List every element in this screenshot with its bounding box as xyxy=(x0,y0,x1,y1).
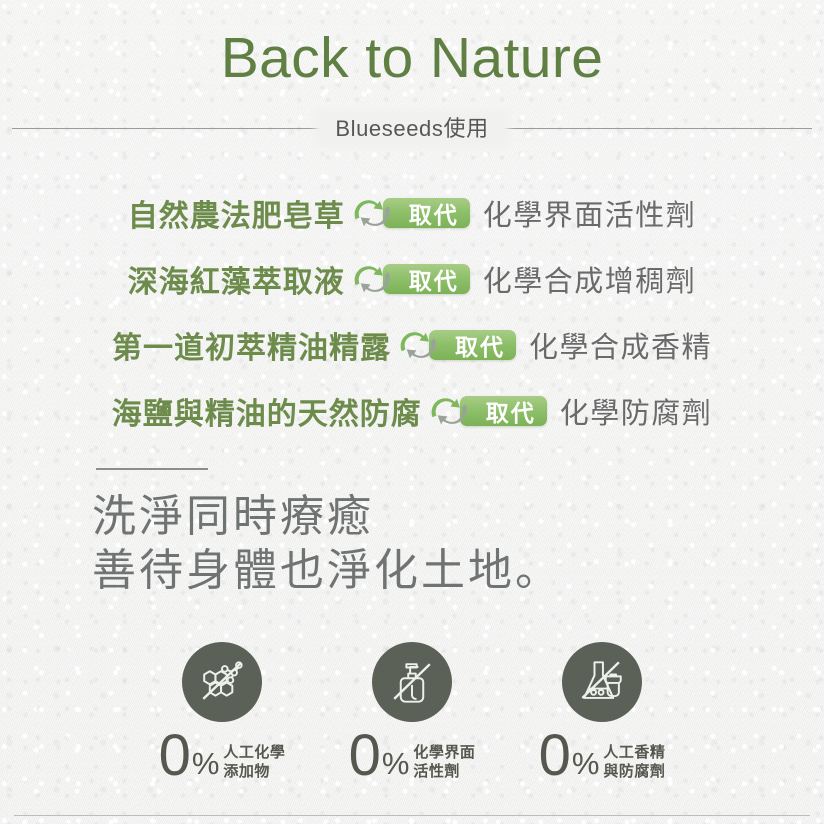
claim-icon-disc xyxy=(182,642,262,722)
replaces-badge: 取代 xyxy=(352,191,470,235)
replaces-badge: 取代 xyxy=(398,323,516,367)
replaces-badge: 取代 xyxy=(352,257,470,301)
claim-label: 化學界面 活性劑 xyxy=(413,744,475,782)
hero-subtitle-wrap: Blueseeds使用 xyxy=(12,116,812,142)
chemical-ingredient-label: 化學防腐劑 xyxy=(560,390,713,432)
claim-label-line-2: 活性劑 xyxy=(413,763,475,780)
claim-item: 0 % 人工香精 與防腐劑 xyxy=(507,642,697,792)
hero-subtitle-rule: Blueseeds使用 xyxy=(12,116,812,142)
natural-ingredient-label: 海鹽與精油的天然防腐 xyxy=(112,389,422,433)
recycle-arrows-icon xyxy=(429,391,469,431)
natural-ingredient-label: 深海紅藻萃取液 xyxy=(128,257,345,301)
claim-unit: % xyxy=(382,747,410,781)
footer-divider xyxy=(14,815,810,816)
zero-claims-row: 0 % 人工化學 添加物 xyxy=(0,642,824,792)
claim-label: 人工香精 與防腐劑 xyxy=(603,744,665,782)
natural-ingredient-label: 第一道初萃精油精露 xyxy=(112,323,391,367)
claim-item: 0 % 化學界面 活性劑 xyxy=(317,642,507,792)
claim-unit: % xyxy=(192,747,220,781)
hero-subtitle: Blueseeds使用 xyxy=(321,116,502,142)
claim-value: 0 xyxy=(539,730,571,782)
tagline-line-2: 善待身體也淨化土地。 xyxy=(92,544,792,598)
claim-label-line-2: 與防腐劑 xyxy=(603,763,665,780)
claim-label-line-2: 添加物 xyxy=(223,763,285,780)
replaces-badge: 取代 xyxy=(429,389,547,433)
natural-ingredient-label: 自然農法肥皂草 xyxy=(128,191,345,235)
chemical-ingredient-label: 化學合成香精 xyxy=(529,324,712,366)
claim-value: 0 xyxy=(159,730,191,782)
tagline-divider xyxy=(96,468,208,470)
claim-label-line-1: 人工化學 xyxy=(223,744,285,761)
claim-footer: 0 % 化學界面 活性劑 xyxy=(317,730,507,782)
replaces-pill-label: 取代 xyxy=(383,264,470,294)
no-pump-bottle-icon xyxy=(382,652,442,712)
replaces-pill-label: 取代 xyxy=(383,198,470,228)
recycle-arrows-icon xyxy=(352,193,392,233)
hero-header: Back to Nature xyxy=(0,28,824,88)
recycle-arrows-icon xyxy=(398,325,438,365)
claim-label-line-1: 人工香精 xyxy=(603,744,665,761)
replacement-list: 自然農法肥皂草 取代 化學界面活性劑 深海紅藻萃取液 xyxy=(0,180,824,444)
claim-item: 0 % 人工化學 添加物 xyxy=(127,642,317,792)
claim-label-line-1: 化學界面 xyxy=(413,744,475,761)
replaces-pill-label: 取代 xyxy=(429,330,516,360)
recycle-arrows-icon xyxy=(352,259,392,299)
claim-unit: % xyxy=(572,747,600,781)
claim-footer: 0 % 人工香精 與防腐劑 xyxy=(507,730,697,782)
claim-icon-disc xyxy=(372,642,452,722)
replacement-row: 深海紅藻萃取液 取代 化學合成增稠劑 xyxy=(0,246,824,312)
claim-value: 0 xyxy=(349,730,381,782)
claim-label: 人工化學 添加物 xyxy=(223,744,285,782)
tagline-block: 洗淨同時療癒 善待身體也淨化土地。 xyxy=(92,490,792,598)
chemical-ingredient-label: 化學界面活性劑 xyxy=(483,192,697,234)
replacement-row: 自然農法肥皂草 取代 化學界面活性劑 xyxy=(0,180,824,246)
replacement-row: 第一道初萃精油精露 取代 化學合成香精 xyxy=(0,312,824,378)
tagline-line-1: 洗淨同時療癒 xyxy=(92,490,792,544)
replaces-pill-label: 取代 xyxy=(460,396,547,426)
no-flask-jar-icon xyxy=(572,652,632,712)
chemical-ingredient-label: 化學合成增稠劑 xyxy=(483,258,697,300)
replacement-row: 海鹽與精油的天然防腐 取代 化學防腐劑 xyxy=(0,378,824,444)
claim-icon-disc xyxy=(562,642,642,722)
claim-footer: 0 % 人工化學 添加物 xyxy=(127,730,317,782)
page-title: Back to Nature xyxy=(0,28,824,88)
no-chemical-molecule-icon xyxy=(192,652,252,712)
poster-canvas: Back to Nature Blueseeds使用 自然農法肥皂草 取代 化學… xyxy=(0,0,824,824)
